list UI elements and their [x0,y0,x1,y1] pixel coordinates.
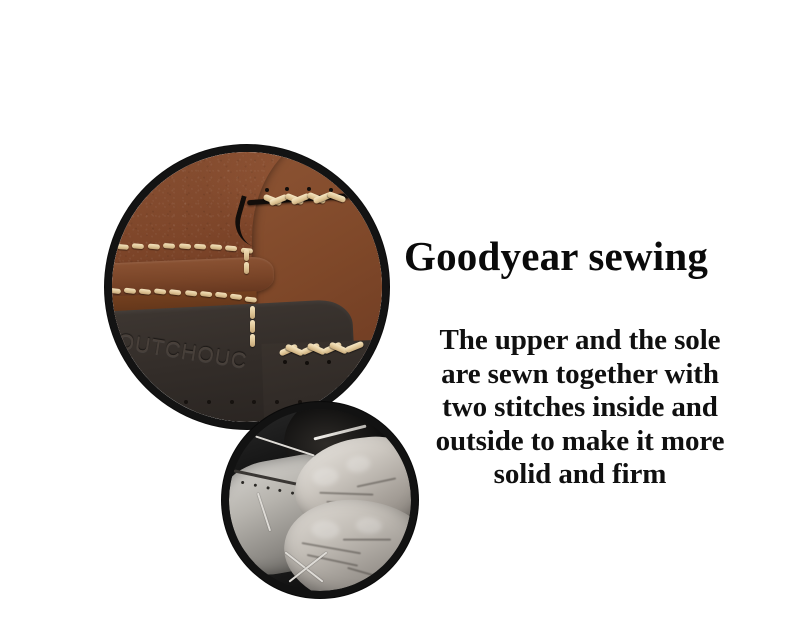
sub-photo-inner [229,409,411,591]
promo-banner: OUTCHOUC [0,0,790,641]
description-line: two stitches inside and [404,391,756,425]
description-paragraph: The upper and the sole are sewn together… [404,324,756,492]
sole-stitch-holes [139,400,301,408]
stitch-turn-upper [244,249,254,287]
text-column: Goodyear sewing The upper and the sole a… [404,232,774,492]
handcraft-photo-circle [222,402,418,598]
stitch-turn-welt [250,306,260,350]
cross-stitch-group-top [263,187,373,213]
main-product-photo-circle: OUTCHOUC [105,145,389,429]
page-title: Goodyear sewing [404,232,774,280]
cross-stitch-group-bottom [279,341,382,367]
description-line: solid and firm [404,458,756,492]
description-line: are sewn together with [404,358,756,392]
main-photo-inner: OUTCHOUC [112,152,382,422]
description-line: outside to make it more [404,425,756,459]
description-line: The upper and the sole [404,324,756,358]
